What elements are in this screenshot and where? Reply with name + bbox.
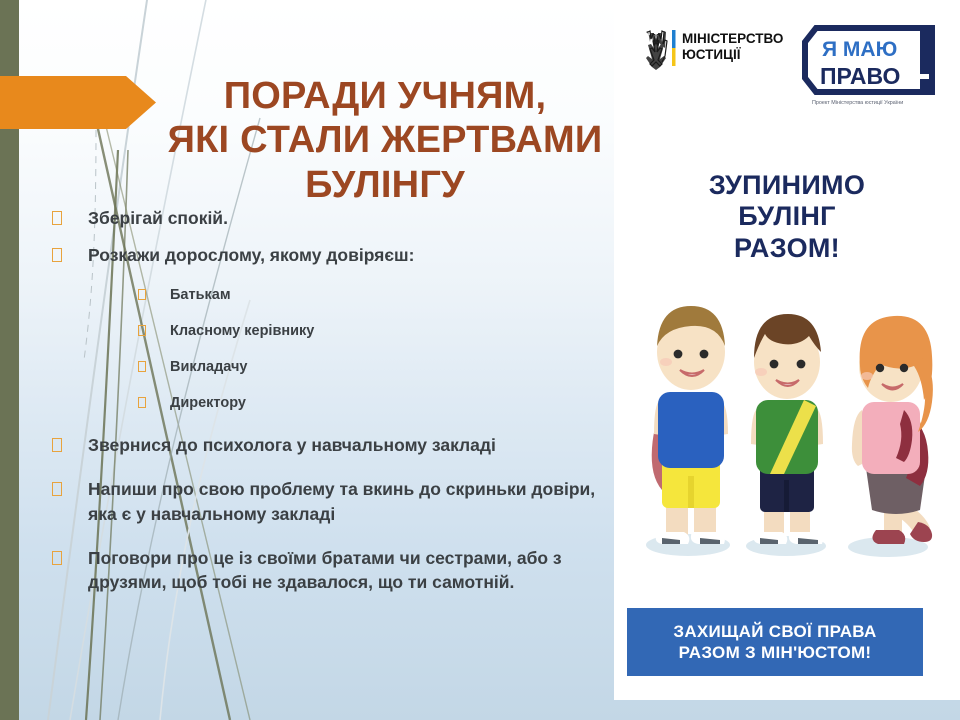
poster-headline-line-1: ЗУПИНИМО	[614, 170, 960, 201]
shoe-1	[872, 530, 905, 544]
list-item: Звернися до психолога у навчальному закл…	[52, 433, 612, 457]
list-item: Розкажи дорослому, якому довіряєш:	[52, 243, 612, 267]
rights-banner: ЗАХИЩАЙ СВОЇ ПРАВА РАЗОМ З МІН'ЮСТОМ!	[627, 608, 923, 676]
list-item-label: Директору	[170, 393, 246, 413]
orange-arrow-shape	[0, 76, 156, 129]
kid-boy-green	[751, 314, 823, 544]
ministry-of-justice-logo: МІНІСТЕРСТВО ЮСТИЦІЇ	[638, 26, 788, 72]
list-item: Батькам	[138, 285, 612, 305]
bullet-marker-icon	[52, 551, 62, 565]
bullet-marker-icon	[138, 325, 146, 336]
anti-bullying-poster: ЗУПИНИМО БУЛІНГ РАЗОМ!	[614, 152, 960, 700]
logo-band: МІНІСТЕРСТВО ЮСТИЦІЇ Я МАЮ ПРАВО Проект …	[614, 0, 960, 152]
list-item-label: Зберігай спокій.	[88, 206, 228, 230]
page-title: ПОРАДИ УЧНЯМ, ЯКІ СТАЛИ ЖЕРТВАМИ БУЛІНГУ	[150, 74, 620, 207]
bullet-marker-icon	[52, 438, 62, 452]
title-line-2: ЯКІ СТАЛИ ЖЕРТВАМИ	[150, 118, 620, 162]
ministry-line-1: МІНІСТЕРСТВО	[682, 31, 783, 46]
list-item: Класному керівнику	[138, 321, 612, 341]
list-item-label: Напиши про свою проблему та вкинь до скр…	[88, 477, 612, 525]
bullet-marker-icon	[52, 211, 62, 225]
advice-list: Зберігай спокій. Розкажи дорослому, яком…	[52, 206, 612, 607]
banner-line-1: ЗАХИЩАЙ СВОЇ ПРАВА	[673, 621, 876, 642]
list-item-label: Звернися до психолога у навчальному закл…	[88, 433, 496, 457]
list-item-label: Батькам	[170, 285, 231, 305]
poster-headline-line-2: БУЛІНГ	[614, 201, 960, 232]
campaign-line-1: Я МАЮ	[822, 38, 897, 61]
kid-boy-blue	[652, 306, 728, 544]
list-item-label: Викладачу	[170, 357, 247, 377]
bullet-marker-icon	[52, 482, 62, 496]
list-item: Директору	[138, 393, 612, 413]
kid-girl-pink	[852, 316, 933, 544]
flag-blue-bar	[672, 30, 676, 48]
list-item-label: Класному керівнику	[170, 321, 314, 341]
campaign-line-2: ПРАВО	[820, 63, 900, 89]
list-item: Напиши про свою проблему та вкинь до скр…	[52, 477, 612, 525]
title-line-3: БУЛІНГУ	[150, 163, 620, 207]
list-item: Викладачу	[138, 357, 612, 377]
list-item: Поговори про це із своїми братами чи сес…	[52, 546, 612, 594]
ukraine-trident-icon	[646, 31, 667, 70]
bullet-marker-icon	[138, 289, 146, 300]
ministry-line-2: ЮСТИЦІЇ	[682, 47, 742, 62]
list-item: Зберігай спокій.	[52, 206, 612, 230]
ya-mayu-pravo-logo: Я МАЮ ПРАВО Проект Міністерства юстиції …	[800, 16, 948, 108]
bullet-marker-icon	[138, 397, 146, 408]
bullet-marker-icon	[138, 361, 146, 372]
bullet-marker-icon	[52, 248, 62, 262]
campaign-caption: Проект Міністерства юстиції України	[812, 100, 903, 106]
title-line-1: ПОРАДИ УЧНЯМ,	[150, 74, 620, 118]
list-item-label: Поговори про це із своїми братами чи сес…	[88, 546, 612, 594]
three-school-children-illustration	[626, 280, 948, 572]
banner-line-2: РАЗОМ З МІН'ЮСТОМ!	[679, 642, 872, 663]
flag-yellow-bar	[672, 48, 676, 66]
slide-canvas: ПОРАДИ УЧНЯМ, ЯКІ СТАЛИ ЖЕРТВАМИ БУЛІНГУ…	[0, 0, 960, 720]
list-item-label: Розкажи дорослому, якому довіряєш:	[88, 243, 414, 267]
blue-shirt	[658, 392, 724, 468]
poster-headline: ЗУПИНИМО БУЛІНГ РАЗОМ!	[614, 170, 960, 264]
exclaim-dot	[920, 79, 929, 89]
exclaim-bar	[920, 30, 929, 74]
poster-headline-line-3: РАЗОМ!	[614, 233, 960, 264]
